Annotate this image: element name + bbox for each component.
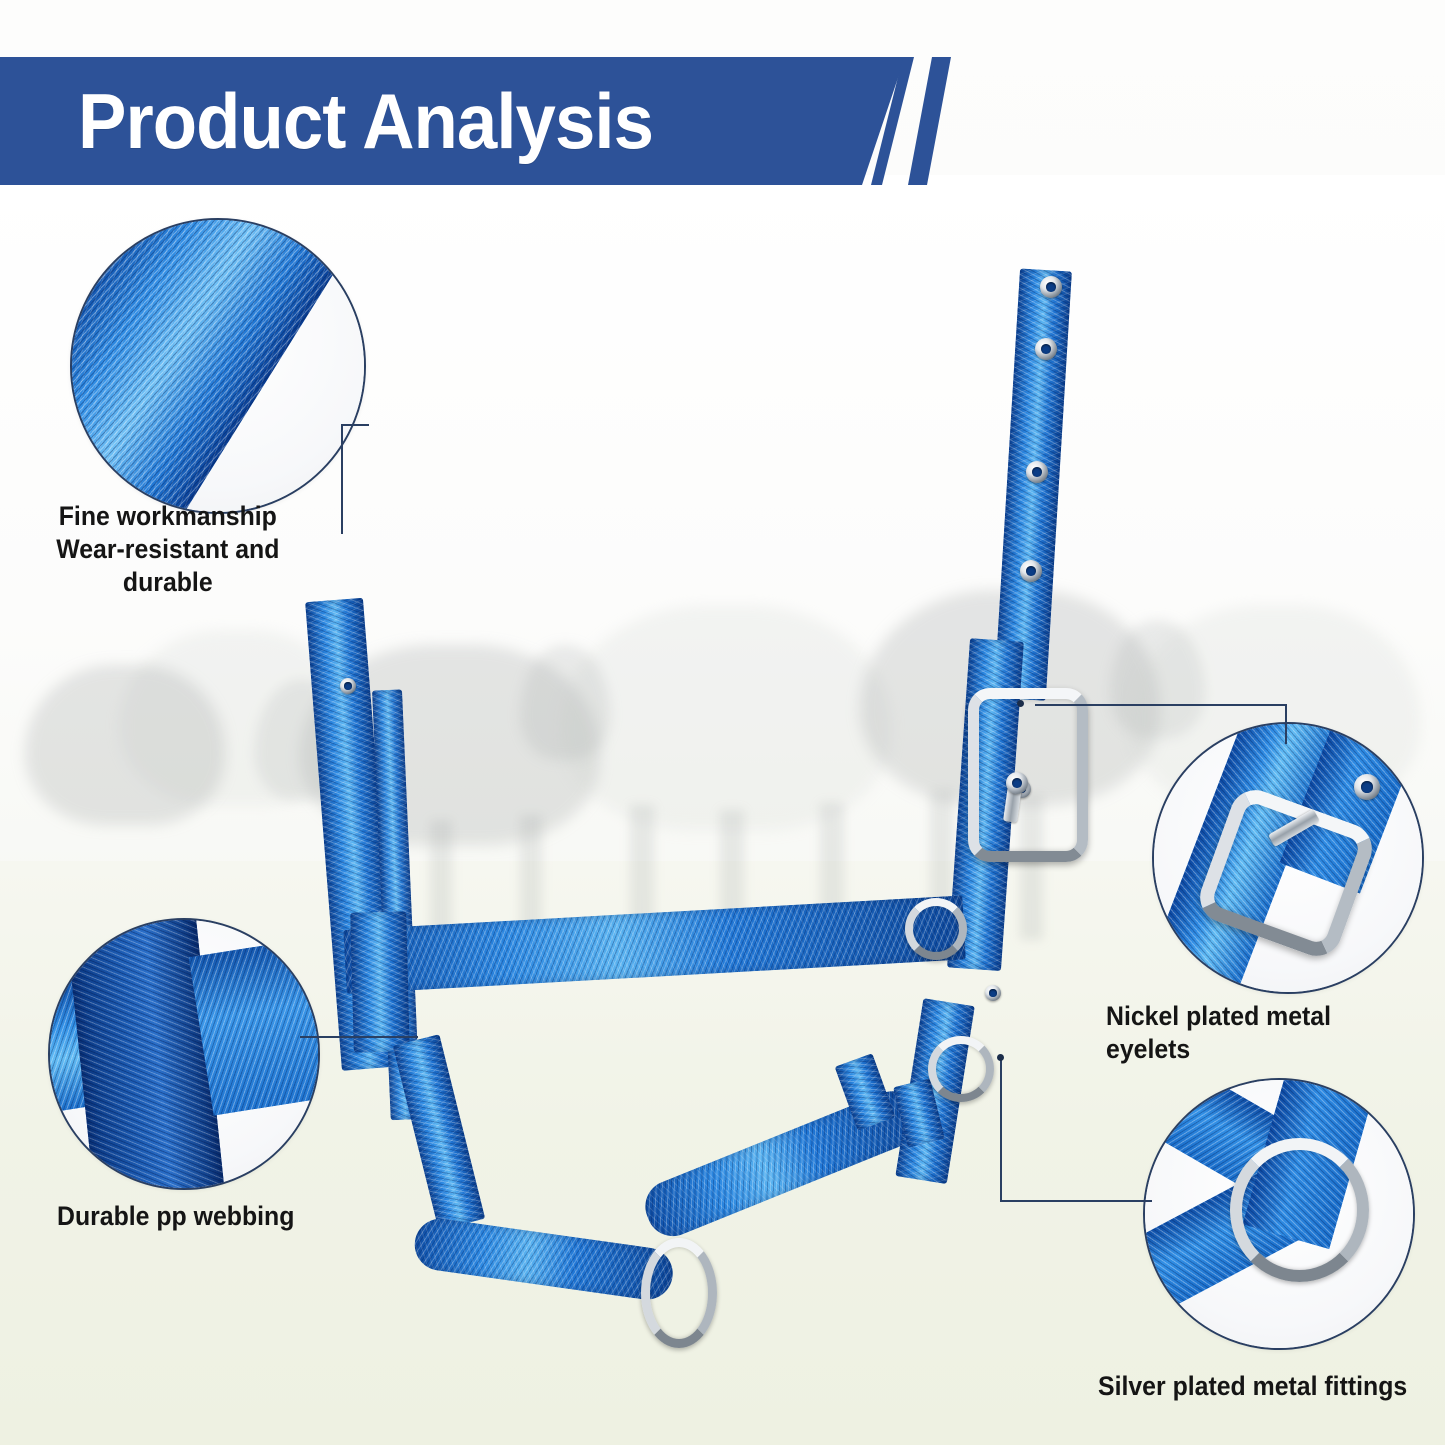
noseband-strap xyxy=(343,895,966,994)
crown-eyelet xyxy=(1035,338,1057,360)
webbing-horizontal-strap-right xyxy=(189,925,320,1116)
callout-label-fine-workmanship: Fine workmanship Wear-resistant and dura… xyxy=(16,500,320,599)
callout-label-silver-plated-fittings: Silver plated metal fittings xyxy=(1098,1370,1407,1403)
lead-ring xyxy=(641,1238,717,1348)
callout-line-3-horizontal xyxy=(1035,704,1287,706)
callout-anchor-dot-3 xyxy=(1017,700,1024,707)
inset-fine-workmanship[interactable] xyxy=(70,218,366,514)
callout-line-3-vertical xyxy=(1285,704,1287,744)
metal-buckle xyxy=(968,688,1088,862)
callout-line-4-horizontal xyxy=(1000,1200,1152,1202)
callout-line-1-vertical xyxy=(341,424,343,534)
cheek-eyelet xyxy=(985,985,1001,1001)
inset-o-ring xyxy=(1230,1138,1369,1282)
crown-strap xyxy=(994,268,1072,700)
callout-line-4-vertical xyxy=(1000,1058,1002,1202)
callout-line-1-horizontal xyxy=(341,424,369,426)
buckle-eyelet xyxy=(1006,772,1028,794)
left-cheek-eyelet xyxy=(340,678,356,694)
side-ring-upper xyxy=(905,898,967,960)
inset-durable-pp-webbing[interactable] xyxy=(48,918,320,1190)
callout-label-durable-pp-webbing: Durable pp webbing xyxy=(57,1200,294,1233)
inset-nickel-plated-eyelets[interactable] xyxy=(1152,722,1424,994)
crown-eyelet xyxy=(1020,560,1042,582)
chin-strap-left xyxy=(393,1034,486,1230)
crown-eyelet xyxy=(1040,276,1062,298)
crown-eyelet xyxy=(1026,461,1048,483)
inset-eyelet xyxy=(1354,774,1380,800)
side-ring-lower xyxy=(928,1036,994,1102)
webbing-keeper-loop xyxy=(350,911,410,1052)
callout-anchor-dot-4 xyxy=(997,1054,1004,1061)
infographic-canvas: Product Analysis xyxy=(0,0,1445,1445)
chin-strap-bottom xyxy=(411,1215,676,1303)
inset-silver-plated-fittings[interactable] xyxy=(1143,1078,1415,1350)
callout-label-nickel-plated-eyelets: Nickel plated metal eyelets xyxy=(1106,1000,1418,1066)
callout-line-2-horizontal xyxy=(300,1036,418,1038)
